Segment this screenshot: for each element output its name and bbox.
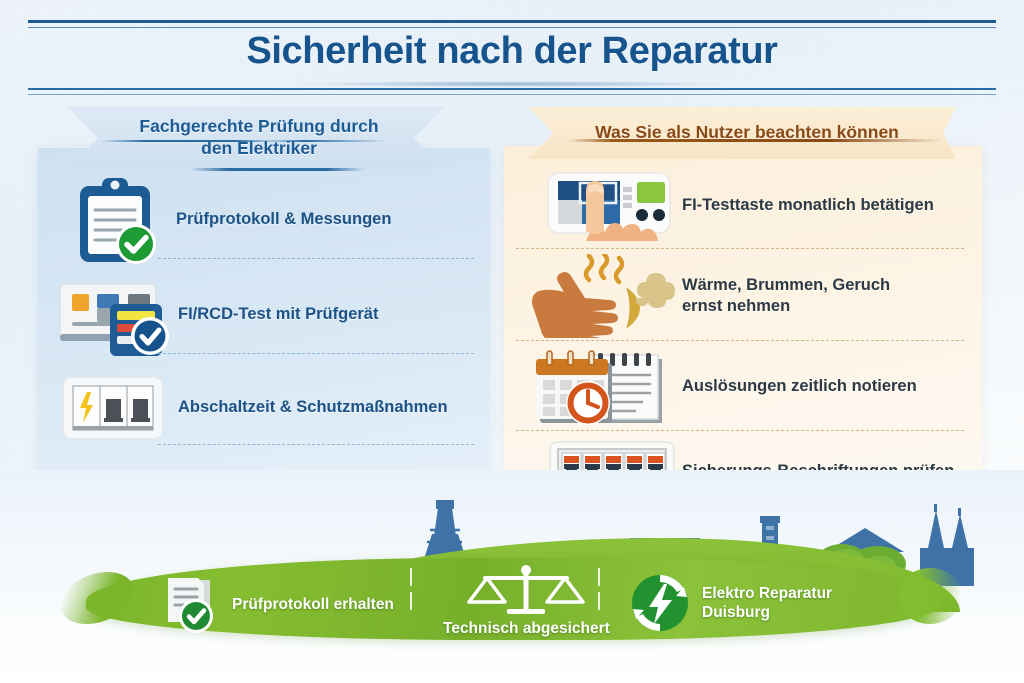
title-underline-glow bbox=[297, 81, 727, 87]
list-item-label-line2: ernst nehmen bbox=[682, 296, 890, 317]
header-rule-top-thin bbox=[28, 27, 996, 28]
header-rule-top bbox=[28, 20, 996, 23]
list-item-label: FI/RCD-Test mit Prüfgerät bbox=[178, 304, 378, 325]
footer-divider bbox=[598, 592, 600, 610]
row-separator bbox=[158, 353, 474, 354]
row-separator bbox=[516, 248, 964, 249]
infographic-root: Sicherheit nach der Reparatur bbox=[0, 0, 1024, 683]
right-column-panel: FI-Testtaste monatlich betätigen Wärme bbox=[504, 146, 982, 515]
list-item-label-line1: Wärme, Brummen, Geruch bbox=[682, 275, 890, 296]
row-separator bbox=[516, 340, 964, 341]
list-item: FI/RCD-Test mit Prüfgerät bbox=[52, 270, 476, 360]
rcd-tester-icon bbox=[52, 270, 178, 360]
left-heading-line1: Fachgerechte Prüfung durch bbox=[74, 116, 444, 138]
clipboard-check-icon bbox=[64, 172, 176, 268]
heat-smell-hand-icon bbox=[526, 254, 682, 338]
footer-divider bbox=[410, 592, 412, 610]
list-item: Abschaltzeit & Schutzmaßnahmen bbox=[56, 366, 480, 450]
row-separator bbox=[516, 430, 964, 431]
list-item: Prüfprotokoll & Messungen bbox=[64, 172, 474, 268]
footer-logo-line2: Duisburg bbox=[702, 603, 832, 622]
list-item-label: FI-Testtaste monatlich betätigen bbox=[682, 195, 934, 216]
header-rule-bottom bbox=[28, 88, 996, 90]
list-item-label: Wärme, Brummen, Geruch ernst nehmen bbox=[682, 275, 890, 318]
left-column-heading-banner: Fachgerechte Prüfung durch den Elektrike… bbox=[68, 107, 444, 169]
bolt-recycle-logo-icon bbox=[627, 570, 693, 636]
footer-item-label: Prüfprotokoll erhalten bbox=[232, 595, 394, 614]
list-item-label: Auslösungen zeitlich notieren bbox=[682, 376, 917, 397]
document-check-icon bbox=[158, 574, 224, 636]
calendar-clock-icon bbox=[530, 345, 682, 429]
list-item-label: Prüfprotokoll & Messungen bbox=[176, 209, 391, 230]
footer-logo-line1: Elektro Reparatur bbox=[702, 584, 832, 603]
footer-item: Prüfprotokoll erhalten bbox=[158, 574, 394, 636]
left-heading-underline-2 bbox=[268, 140, 388, 142]
list-item-label: Abschaltzeit & Schutzmaßnahmen bbox=[178, 397, 448, 418]
row-separator bbox=[158, 258, 474, 259]
left-column-panel: Prüfprotokoll & Messungen bbox=[38, 148, 490, 517]
scales-icon bbox=[463, 564, 589, 616]
list-item: FI-Testtaste monatlich betätigen bbox=[542, 166, 972, 246]
left-column-heading: Fachgerechte Prüfung durch den Elektrike… bbox=[68, 116, 444, 160]
right-column-heading-banner: Was Sie als Nutzer beachten können bbox=[528, 107, 956, 159]
footer-item: Technisch abgesichert bbox=[443, 564, 610, 638]
header-rule-bottom-thin bbox=[28, 94, 996, 95]
footer-logo-label: Elektro Reparatur Duisburg bbox=[702, 584, 832, 623]
footer-divider bbox=[410, 568, 412, 586]
footer-item-label: Technisch abgesichert bbox=[443, 619, 610, 638]
footer-divider bbox=[598, 568, 600, 586]
page-title: Sicherheit nach der Reparatur bbox=[0, 30, 1024, 73]
left-heading-underline-1 bbox=[100, 140, 280, 142]
test-button-press-icon bbox=[542, 163, 682, 249]
right-heading-underline bbox=[568, 139, 942, 142]
circuit-breaker-icon bbox=[56, 366, 178, 450]
list-item: Wärme, Brummen, Geruch ernst nehmen bbox=[526, 254, 970, 338]
left-heading-underline-3 bbox=[190, 168, 365, 171]
footer-scene: Prüfprotokoll erhalten Technisch abgesic… bbox=[0, 470, 1024, 683]
row-separator bbox=[158, 444, 474, 445]
list-item: Auslösungen zeitlich notieren bbox=[530, 346, 974, 428]
footer-logo: Elektro Reparatur Duisburg bbox=[627, 570, 832, 636]
